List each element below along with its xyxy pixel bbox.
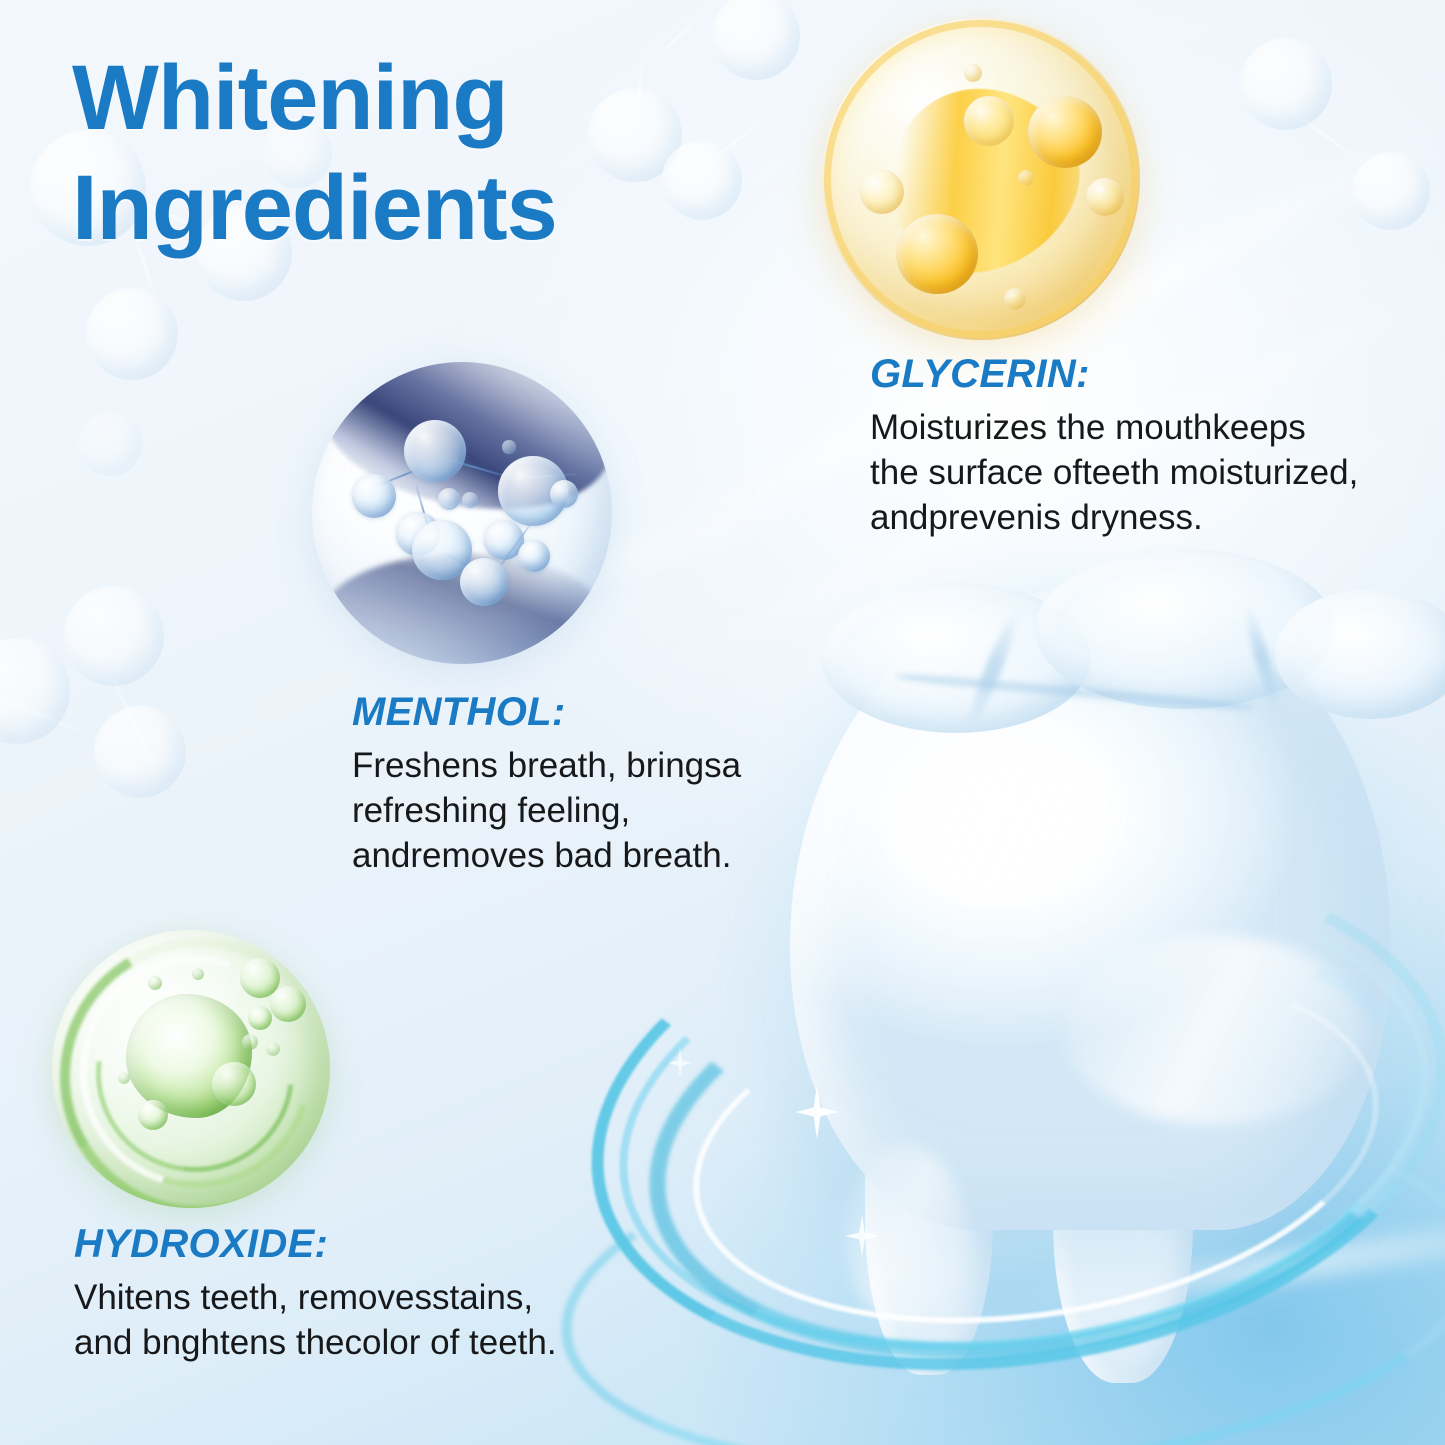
ingredient-text-line: Moisturizes the mouthkeeps — [870, 405, 1358, 450]
green-bubble — [270, 986, 306, 1022]
ingredients-poster: Whitening Ingredients GLYCERIN: Moisturi… — [0, 0, 1445, 1445]
faint-white-molecule-icon — [712, 0, 800, 80]
page-title-line-1: Whitening — [72, 47, 508, 149]
cyan-ribbon-swirl-icon — [668, 923, 1405, 1369]
molecule-node — [460, 558, 508, 606]
page-title-line-2: Ingredients — [72, 162, 712, 254]
faint-white-molecule-icon — [64, 586, 164, 686]
green-gel-sphere-icon — [52, 930, 330, 1208]
tooth-cusp-left — [821, 583, 1091, 733]
gold-bubble — [1018, 170, 1034, 186]
molecule-node — [518, 540, 550, 572]
faint-white-molecule-icon — [1240, 38, 1332, 130]
molecule-node — [438, 488, 460, 510]
tooth-cusp-right — [1275, 589, 1445, 719]
faint-white-molecule-icon — [78, 412, 142, 476]
cyan-ribbon-swirl-icon — [586, 837, 1445, 1405]
page-title: Whitening Ingredients — [72, 52, 712, 254]
tooth-crown — [790, 590, 1390, 1230]
faint-white-molecule-icon — [94, 706, 186, 798]
tooth-groove — [895, 669, 1255, 714]
ingredient-text-line: andprevenis dryness. — [870, 495, 1358, 540]
faint-white-molecule-icon — [0, 690, 85, 734]
molecule-node — [502, 440, 516, 454]
green-bubble — [248, 1006, 272, 1030]
gold-bubble — [1086, 178, 1124, 216]
tooth-glow — [765, 565, 1425, 1285]
tooth-cusp-mid — [1035, 549, 1335, 709]
ingredient-block-glycerin: GLYCERIN: Moisturizes the mouthkeeps the… — [870, 352, 1358, 540]
molecule-node — [352, 474, 396, 518]
faint-white-molecule-icon — [1352, 152, 1430, 230]
ingredient-heading-glycerin: GLYCERIN: — [870, 352, 1358, 397]
four-point-star-sparkle-icon — [668, 1048, 692, 1078]
gold-droplet-top — [1028, 96, 1102, 168]
molecule-node — [404, 420, 466, 482]
green-bubble — [266, 1042, 280, 1056]
ingredient-text-line: the surface ofteeth moisturized, — [870, 450, 1358, 495]
faint-white-molecule-icon — [111, 677, 156, 765]
tooth-highlight — [885, 755, 1135, 905]
green-bubble — [192, 968, 204, 980]
faint-white-molecule-icon — [86, 288, 178, 380]
ingredient-text-line: refreshing feeling, — [352, 788, 741, 833]
gold-bubble — [1004, 288, 1026, 310]
tooth-highlight — [1065, 935, 1365, 1125]
tooth-highlight — [845, 1145, 965, 1325]
ingredient-block-hydroxide: HYDROXIDE: Vhitens teeth, removesstains,… — [74, 1222, 557, 1365]
cyan-ribbon-swirl-icon — [546, 1081, 1445, 1445]
gold-bubble — [860, 170, 904, 214]
green-bubble — [148, 976, 162, 990]
green-bubble — [118, 1072, 130, 1084]
green-bubble — [242, 1034, 258, 1050]
faint-white-molecule-icon — [1291, 110, 1364, 164]
gold-gel-sphere-icon — [822, 18, 1140, 340]
molecule-node — [462, 492, 478, 508]
light-streak — [981, 1207, 1445, 1323]
cyan-ribbon-swirl-icon — [555, 805, 1445, 1428]
gold-bubble — [964, 96, 1014, 146]
ingredient-text-line: andremoves bad breath. — [352, 833, 741, 878]
clear-molecule-sphere-icon — [312, 362, 612, 664]
green-bubble — [212, 1062, 256, 1106]
faint-white-molecule-icon — [0, 638, 70, 744]
ingredient-block-menthol: MENTHOL: Freshens breath, bringsa refres… — [352, 690, 741, 878]
four-point-star-sparkle-icon — [795, 1085, 839, 1139]
ingredient-text-line: Vhitens teeth, removesstains, — [74, 1275, 557, 1320]
gold-bubble — [964, 64, 982, 82]
ingredient-heading-hydroxide: HYDROXIDE: — [74, 1222, 557, 1267]
tooth-artwork — [735, 545, 1445, 1405]
cyan-ribbon-swirl-icon — [618, 871, 1445, 1410]
tooth-groove — [1240, 603, 1284, 713]
tooth-root-left — [865, 1125, 993, 1375]
tooth-root-right — [1053, 1125, 1193, 1383]
gold-droplet-bottom — [896, 214, 978, 294]
ingredient-text-line: Freshens breath, bringsa — [352, 743, 741, 788]
molecule-node — [550, 480, 578, 508]
tooth-groove — [961, 607, 1025, 734]
four-point-star-sparkle-icon — [845, 1215, 879, 1257]
green-bubble — [138, 1100, 168, 1130]
ingredient-heading-menthol: MENTHOL: — [352, 690, 741, 735]
ingredient-text-line: and bnghtens thecolor of teeth. — [74, 1320, 557, 1365]
